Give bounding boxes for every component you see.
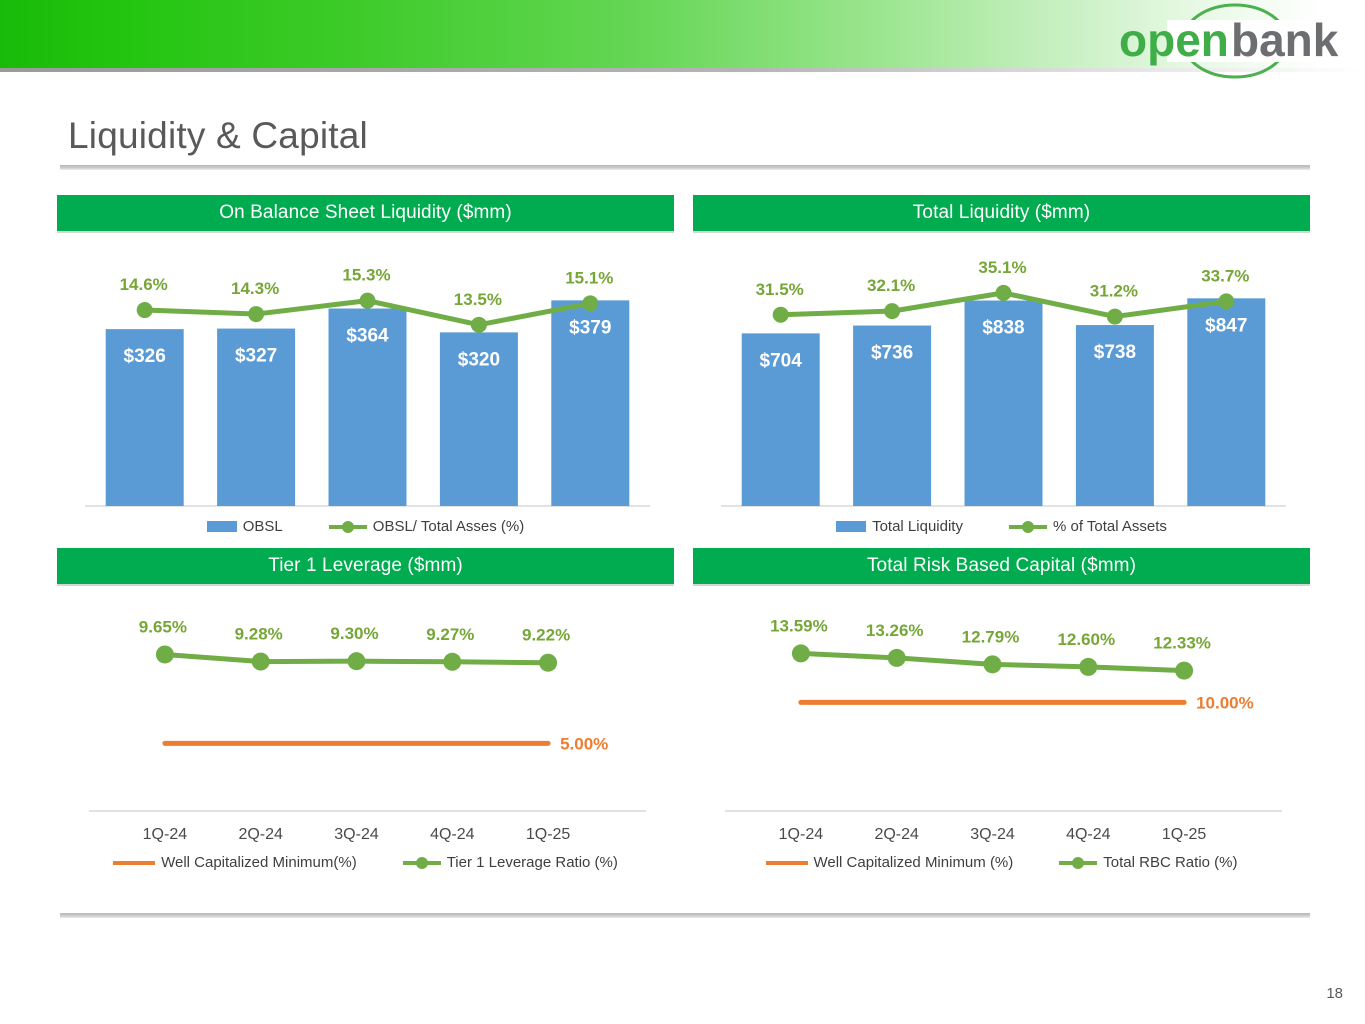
- threshold-end-label: 10.00%: [1196, 693, 1254, 712]
- bar-group: $704: [742, 333, 820, 506]
- legend-label: Total RBC Ratio (%): [1103, 854, 1237, 871]
- legend-item-obsl-total-asses-[interactable]: OBSL/ Total Asses (%): [329, 518, 524, 535]
- legend-swatch-threshold-line: [766, 861, 808, 865]
- bar-group: $327: [217, 329, 295, 506]
- threshold-end-label: 5.00%: [560, 734, 608, 753]
- line-value-label-1Q-24: 9.65%: [139, 617, 187, 636]
- logo-svg: open bank: [1107, 2, 1357, 80]
- chart-canvas: $704$736$838$738$84731.5%32.1%35.1%31.2%…: [693, 231, 1310, 516]
- line-value-label-3Q-24: 35.1%: [978, 258, 1026, 277]
- bar-value-label-2Q-24: $736: [871, 343, 913, 364]
- x-tick-label-4Q-24: 4Q-24: [1066, 826, 1111, 843]
- bar-value-label-4Q-24: $320: [458, 349, 500, 370]
- title-divider: [60, 165, 1310, 170]
- line-marker-1Q-25: [1175, 662, 1193, 680]
- line-value-label-3Q-24: 12.79%: [962, 627, 1020, 646]
- line-marker-1Q-24: [773, 307, 789, 323]
- bar-value-label-1Q-24: $704: [760, 350, 803, 371]
- line-value-label-2Q-24: 14.3%: [231, 279, 279, 298]
- line-value-label-4Q-24: 31.2%: [1090, 282, 1138, 301]
- panel-header-wrap: Total Liquidity ($mm): [693, 195, 1310, 231]
- line-value-label-1Q-24: 13.59%: [770, 616, 828, 635]
- line-value-label-1Q-25: 9.22%: [522, 626, 570, 645]
- line-marker-4Q-24: [471, 317, 487, 333]
- chart-total-liquidity: $704$736$838$738$84731.5%32.1%35.1%31.2%…: [693, 231, 1310, 516]
- x-tick-label-3Q-24: 3Q-24: [334, 826, 379, 843]
- line-marker-1Q-24: [792, 644, 810, 662]
- panel-title-total-liquidity: Total Liquidity ($mm): [693, 195, 1310, 231]
- bar-group: $838: [965, 301, 1043, 506]
- line-value-label-1Q-25: 15.1%: [565, 268, 613, 287]
- legend-label: OBSL: [243, 518, 283, 535]
- line-marker-1Q-25: [1218, 293, 1234, 309]
- panel-header-wrap: Total Risk Based Capital ($mm): [693, 548, 1310, 584]
- line-marker-2Q-24: [884, 303, 900, 319]
- bar-value-label-1Q-24: $326: [124, 346, 166, 367]
- bar-group: $738: [1076, 325, 1154, 506]
- line-marker-1Q-25: [582, 295, 598, 311]
- line-value-label-3Q-24: 15.3%: [342, 266, 390, 285]
- x-tick-label-2Q-24: 2Q-24: [874, 826, 919, 843]
- bottom-divider: [60, 913, 1310, 918]
- legend-swatch-threshold-line: [113, 861, 155, 865]
- chart-canvas: $326$327$364$320$37914.6%14.3%15.3%13.5%…: [57, 231, 674, 516]
- bar-value-label-3Q-24: $838: [982, 318, 1024, 339]
- line-marker-1Q-24: [156, 645, 174, 663]
- bar-group: $364: [329, 309, 407, 506]
- x-tick-label-4Q-24: 4Q-24: [430, 826, 475, 843]
- legend-item-well-capitalized-minimum-[interactable]: Well Capitalized Minimum(%): [113, 854, 357, 871]
- line-marker-3Q-24: [984, 655, 1002, 673]
- logo-word-open: open: [1119, 14, 1229, 66]
- line-marker-4Q-24: [1079, 658, 1097, 676]
- x-tick-label-1Q-25: 1Q-25: [526, 826, 571, 843]
- legend-obsl: OBSLOBSL/ Total Asses (%): [57, 518, 674, 535]
- chart-canvas: 5.00%9.65%9.28%9.30%9.27%9.22%1Q-242Q-24…: [57, 584, 674, 852]
- panel-total-risk-based-capital: Total Risk Based Capital ($mm) 10.00%13.…: [693, 548, 1310, 871]
- line-value-label-2Q-24: 9.28%: [235, 625, 283, 644]
- line-marker-1Q-25: [539, 654, 557, 672]
- line-value-label-1Q-24: 14.6%: [120, 275, 168, 294]
- legend-total-liquidity: Total Liquidity% of Total Assets: [693, 518, 1310, 535]
- x-tick-label-1Q-24: 1Q-24: [779, 826, 824, 843]
- line-value-label-1Q-25: 33.7%: [1201, 266, 1249, 285]
- legend-tier-1-leverage: Well Capitalized Minimum(%)Tier 1 Levera…: [57, 854, 674, 871]
- panel-title-obsl: On Balance Sheet Liquidity ($mm): [57, 195, 674, 231]
- line-marker-2Q-24: [888, 649, 906, 667]
- legend-label: OBSL/ Total Asses (%): [373, 518, 524, 535]
- legend-label: Well Capitalized Minimum (%): [814, 854, 1014, 871]
- legend-label: % of Total Assets: [1053, 518, 1167, 535]
- legend-item-tier-1-leverage-ratio-[interactable]: Tier 1 Leverage Ratio (%): [403, 854, 618, 871]
- x-tick-label-1Q-25: 1Q-25: [1162, 826, 1207, 843]
- line-value-label-4Q-24: 12.60%: [1057, 630, 1115, 649]
- line-marker-2Q-24: [248, 306, 264, 322]
- bar-group: $320: [440, 332, 518, 506]
- line-value-label-3Q-24: 9.30%: [330, 624, 378, 643]
- line-marker-3Q-24: [348, 652, 366, 670]
- line-marker-3Q-24: [360, 293, 376, 309]
- line-value-label-4Q-24: 13.5%: [454, 290, 502, 309]
- bar-value-label-3Q-24: $364: [346, 326, 389, 347]
- bar-value-label-2Q-24: $327: [235, 346, 277, 367]
- openbank-logo: open bank: [1107, 2, 1357, 80]
- chart-obsl: $326$327$364$320$37914.6%14.3%15.3%13.5%…: [57, 231, 674, 516]
- panel-header-wrap: On Balance Sheet Liquidity ($mm): [57, 195, 674, 231]
- bar-group: $379: [551, 300, 629, 506]
- line-value-label-2Q-24: 32.1%: [867, 276, 915, 295]
- bar-group: $736: [853, 326, 931, 506]
- page-title: Liquidity & Capital: [68, 115, 368, 157]
- legend-swatch-marker-line: [403, 856, 441, 870]
- chart-tier-1-leverage: 5.00%9.65%9.28%9.30%9.27%9.22%1Q-242Q-24…: [57, 584, 674, 852]
- legend-item-well-capitalized-minimum-[interactable]: Well Capitalized Minimum (%): [766, 854, 1014, 871]
- legend-total-risk-based-capital: Well Capitalized Minimum (%)Total RBC Ra…: [693, 854, 1310, 871]
- line-marker-4Q-24: [1107, 309, 1123, 325]
- line-value-label-4Q-24: 9.27%: [426, 625, 474, 644]
- line-marker-4Q-24: [443, 653, 461, 671]
- bar-value-label-4Q-24: $738: [1094, 342, 1136, 363]
- bar-group: $847: [1187, 298, 1265, 506]
- legend-swatch-bar: [836, 521, 866, 532]
- x-tick-label-1Q-24: 1Q-24: [143, 826, 188, 843]
- chart-canvas: 10.00%13.59%13.26%12.79%12.60%12.33%1Q-2…: [693, 584, 1310, 852]
- legend-label: Tier 1 Leverage Ratio (%): [447, 854, 618, 871]
- legend-item-total-liquidity[interactable]: Total Liquidity: [836, 518, 963, 535]
- panel-header-wrap: Tier 1 Leverage ($mm): [57, 548, 674, 584]
- panel-title-tier-1-leverage: Tier 1 Leverage ($mm): [57, 548, 674, 584]
- x-tick-label-3Q-24: 3Q-24: [970, 826, 1015, 843]
- panel-on-balance-sheet-liquidity: On Balance Sheet Liquidity ($mm) $326$32…: [57, 195, 674, 535]
- logo-word-bank: bank: [1231, 14, 1339, 66]
- line-value-label-2Q-24: 13.26%: [866, 621, 924, 640]
- legend-item-total-rbc-ratio-[interactable]: Total RBC Ratio (%): [1059, 854, 1237, 871]
- legend-label: Well Capitalized Minimum(%): [161, 854, 357, 871]
- chart-total-risk-based-capital: 10.00%13.59%13.26%12.79%12.60%12.33%1Q-2…: [693, 584, 1310, 852]
- line-value-label-1Q-25: 12.33%: [1153, 634, 1211, 653]
- bar-value-label-1Q-25: $847: [1205, 315, 1247, 336]
- legend-swatch-marker-line: [1009, 520, 1047, 534]
- legend-swatch-bar: [207, 521, 237, 532]
- panel-title-total-risk-based-capital: Total Risk Based Capital ($mm): [693, 548, 1310, 584]
- x-tick-label-2Q-24: 2Q-24: [238, 826, 283, 843]
- panel-total-liquidity: Total Liquidity ($mm) $704$736$838$738$8…: [693, 195, 1310, 535]
- page-number: 18: [1326, 985, 1343, 1002]
- line-marker-3Q-24: [996, 285, 1012, 301]
- legend-swatch-marker-line: [1059, 856, 1097, 870]
- legend-swatch-marker-line: [329, 520, 367, 534]
- line-marker-1Q-24: [137, 302, 153, 318]
- legend-label: Total Liquidity: [872, 518, 963, 535]
- bar-group: $326: [106, 329, 184, 506]
- legend-item-obsl[interactable]: OBSL: [207, 518, 283, 535]
- line-marker-2Q-24: [252, 653, 270, 671]
- panel-tier-1-leverage: Tier 1 Leverage ($mm) 5.00%9.65%9.28%9.3…: [57, 548, 674, 871]
- line-value-label-1Q-24: 31.5%: [756, 280, 804, 299]
- bar-value-label-1Q-25: $379: [569, 317, 611, 338]
- legend-item--of-total-assets[interactable]: % of Total Assets: [1009, 518, 1167, 535]
